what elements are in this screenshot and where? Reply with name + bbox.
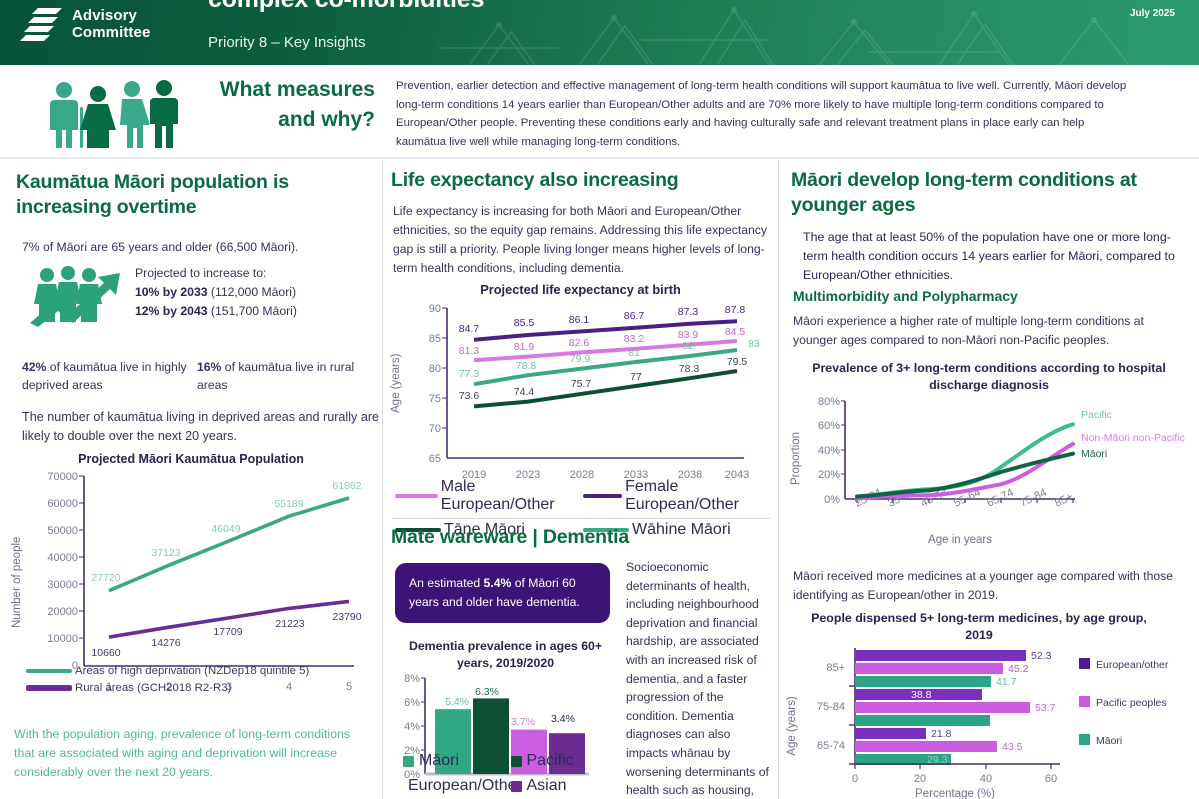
bar-85-pacific (855, 663, 1003, 674)
svg-text:78.8: 78.8 (516, 360, 537, 372)
col3-title: Māori develop long-term conditions at yo… (791, 168, 1191, 218)
org-logo: Advisory Committee (22, 4, 182, 50)
svg-text:60000: 60000 (47, 498, 78, 510)
legend-label: Areas of high deprivation (NZDep18 quint… (75, 665, 309, 677)
svg-text:85.5: 85.5 (514, 317, 535, 329)
intro-heading: What measures and why? (190, 75, 375, 135)
legend-item: Asian (511, 777, 619, 795)
svg-text:90: 90 (429, 303, 441, 315)
col1-two-stats: 42% of kaumātua live in highly deprived … (22, 358, 374, 394)
col2-side-text: Socioeconomic determinants of health, in… (626, 558, 772, 799)
svg-text:53.7: 53.7 (1035, 702, 1056, 714)
svg-text:0: 0 (852, 773, 858, 785)
svg-text:8%: 8% (404, 673, 420, 685)
svg-text:86.7: 86.7 (624, 310, 645, 322)
svg-text:10000: 10000 (47, 633, 78, 645)
bar-7584-maori (855, 715, 990, 726)
legend-swatch-deprivation (26, 669, 72, 673)
svg-text:3.4%: 3.4% (551, 713, 575, 725)
bar-6574-european (855, 728, 926, 739)
svg-text:46049: 46049 (211, 523, 240, 535)
legend-label: Asian (527, 777, 567, 795)
svg-text:61862: 61862 (332, 480, 361, 492)
page-header: Advisory Committee complex co-morbiditie… (0, 0, 1199, 65)
chart-life-expectancy: Age (years) 90 85 80 75 70 65 2019202320… (389, 298, 771, 498)
legend-swatch-rural (26, 685, 72, 691)
legend-swatch-maori (403, 756, 414, 767)
svg-text:87.3: 87.3 (678, 306, 699, 318)
col2-title-dementia: Mate wareware | Dementia (391, 525, 771, 550)
col1-stat-deprived-value: 42% (22, 360, 46, 374)
svg-text:60: 60 (1045, 773, 1057, 785)
svg-text:5.4%: 5.4% (445, 696, 469, 708)
chart1-ylabel: Number of people (11, 537, 23, 628)
col3-subhead: Multimorbidity and Polypharmacy (793, 288, 1018, 304)
people-growth-arrow-icon (28, 265, 128, 327)
intro-body: Prevention, earlier detection and effect… (396, 77, 1131, 151)
bar-85-european (855, 650, 1026, 661)
col3-body-1: The age that at least 50% of the populat… (803, 228, 1183, 285)
svg-text:38.8: 38.8 (911, 689, 932, 701)
intro-divider (0, 157, 1199, 159)
svg-text:84.5: 84.5 (725, 326, 746, 338)
col2-title: Life expectancy also increasing (391, 168, 771, 193)
chart3-legend: Māori Pacific European/Other Asian (403, 752, 618, 799)
svg-text:55189: 55189 (274, 498, 303, 510)
svg-text:0%: 0% (824, 494, 840, 506)
intro-band: What measures and why? Prevention, earli… (0, 65, 1199, 157)
svg-text:70000: 70000 (47, 471, 78, 483)
org-line-1: Advisory (72, 7, 137, 24)
col1-projection: Projected to increase to: 10% by 2033 (1… (135, 264, 365, 321)
col1-projection-1-bold: 10% by 2033 (135, 285, 208, 299)
legend-label: Male European/Other (441, 478, 583, 514)
svg-text:85+: 85+ (1053, 491, 1075, 510)
legend-swatch-pacific (511, 756, 522, 767)
four-people-icon (40, 77, 185, 149)
svg-text:75.7: 75.7 (571, 378, 592, 390)
legend-label: Pacific peoples (1096, 697, 1167, 709)
svg-text:75-84: 75-84 (1018, 487, 1049, 510)
svg-text:3.7%: 3.7% (511, 716, 535, 728)
svg-text:41.3: 41.3 (995, 715, 1016, 727)
column-population: Kaumātua Māori population is increasing … (0, 160, 382, 799)
chart4-ylabel: Proportion (790, 432, 802, 485)
chart-title-projected-population: Projected Māori Kaumātua Population (0, 452, 382, 466)
bar-7584-pacific (855, 702, 1030, 713)
svg-text:40%: 40% (818, 445, 840, 457)
svg-text:83: 83 (748, 338, 760, 350)
chart-medicines-dispensed: Age (years) 85+75-8465-74 52.3 45 (779, 644, 1199, 799)
col1-projection-2-bold: 12% by 2043 (135, 304, 208, 318)
svg-text:70: 70 (429, 423, 441, 435)
dementia-callout-value: 5.4% (484, 576, 512, 590)
infographic-page: Advisory Committee complex co-morbiditie… (0, 0, 1199, 799)
col3-body-3: Māori received more medicines at a young… (793, 567, 1183, 605)
svg-text:86.1: 86.1 (569, 314, 590, 326)
logo-mark-icon (22, 6, 66, 48)
col2-body: Life expectancy is increasing for both M… (393, 202, 775, 278)
chart-title-life-expectancy: Projected life expectancy at birth (383, 282, 778, 297)
chart5-xlabel: Percentage (%) (915, 788, 995, 799)
svg-text:45.2: 45.2 (1008, 663, 1029, 675)
svg-text:30000: 30000 (47, 579, 78, 591)
svg-text:21.8: 21.8 (931, 728, 952, 740)
svg-text:23790: 23790 (332, 611, 361, 623)
svg-text:85: 85 (429, 333, 441, 345)
col1-stat-rural: 16% of kaumātua live in rural areas (197, 358, 372, 394)
svg-text:82: 82 (682, 340, 694, 352)
svg-text:85+: 85+ (826, 662, 845, 674)
legend-label: Pacific (527, 752, 574, 770)
col1-projection-1-rest: (112,000 Māori) (208, 285, 297, 299)
svg-text:74.4: 74.4 (514, 386, 535, 398)
svg-text:65-74: 65-74 (817, 740, 845, 752)
col1-note: The number of kaumātua living in deprive… (22, 408, 382, 446)
bar-6574-pacific (855, 741, 997, 752)
svg-text:27720: 27720 (91, 572, 120, 584)
svg-text:87.8: 87.8 (725, 304, 746, 316)
svg-text:77: 77 (630, 371, 642, 383)
col1-stat-rural-value: 16% (197, 360, 221, 374)
svg-text:75: 75 (429, 393, 441, 405)
svg-text:52.3: 52.3 (1031, 650, 1052, 662)
org-name: Advisory Committee (72, 7, 150, 41)
svg-text:65: 65 (429, 453, 441, 465)
svg-text:65-74: 65-74 (985, 487, 1016, 510)
legend-swatch-male-european (395, 494, 438, 498)
svg-text:43.5: 43.5 (1002, 741, 1023, 753)
svg-text:81.3: 81.3 (459, 345, 480, 357)
col1-stat-65plus: 7% of Māori are 65 years and older (66,5… (22, 238, 372, 257)
svg-text:40000: 40000 (47, 552, 78, 564)
legend-label: European/other (1096, 659, 1169, 671)
chart1-legend: Areas of high deprivation (NZDep18 quint… (26, 665, 376, 699)
header-title: complex co-morbidities (208, 0, 908, 14)
col1-footer: With the population aging, prevalence of… (14, 725, 369, 782)
svg-text:73.6: 73.6 (459, 390, 480, 402)
legend-item: Pacific (511, 752, 619, 770)
col1-stat-deprived: 42% of kaumātua live in highly deprived … (22, 358, 197, 394)
svg-text:81.9: 81.9 (514, 341, 535, 353)
svg-text:82.6: 82.6 (569, 337, 590, 349)
chart4-label-nonmaori: Non-Māori non-Pacific (1081, 432, 1185, 444)
org-line-2: Committee (72, 24, 150, 41)
svg-text:6.3%: 6.3% (475, 686, 499, 698)
svg-text:83.2: 83.2 (624, 333, 645, 345)
svg-text:79.9: 79.9 (570, 353, 591, 365)
legend-swatch-female-european (583, 494, 622, 498)
svg-text:75-84: 75-84 (817, 701, 845, 713)
legend-label: Māori (1096, 735, 1122, 747)
legend-swatch-asian (511, 781, 522, 792)
legend-item: Māori (403, 752, 511, 770)
column-life-expectancy: Life expectancy also increasing Life exp… (383, 160, 778, 799)
svg-text:41.7: 41.7 (996, 676, 1017, 688)
svg-text:60%: 60% (818, 420, 840, 432)
legend-item: Areas of high deprivation (NZDep18 quint… (26, 665, 376, 677)
svg-text:79.5: 79.5 (727, 356, 748, 368)
chart-title-prevalence-3plus: Prevalence of 3+ long-term conditions ac… (789, 360, 1189, 394)
svg-text:40: 40 (980, 773, 992, 785)
svg-text:6%: 6% (404, 697, 420, 709)
header-date: July 2025 (1130, 8, 1175, 19)
chart5-legend: European/other Pacific peoples Māori (1079, 658, 1169, 747)
legend-item: Rural areas (GCH2018 R2-R3) (26, 682, 376, 694)
svg-text:4%: 4% (404, 721, 420, 733)
svg-text:81: 81 (628, 347, 640, 359)
svg-text:80: 80 (429, 363, 441, 375)
svg-text:84.7: 84.7 (459, 323, 480, 335)
svg-text:20%: 20% (818, 469, 840, 481)
legend-label: Female European/Other (625, 478, 771, 514)
svg-text:50000: 50000 (47, 525, 78, 537)
chart5-ylabel: Age (years) (786, 696, 798, 756)
legend-label: European/Other (408, 777, 522, 795)
chart-prevalence-3plus: Proportion 80% 60% 40% 20% 0% 25-34 35-4… (785, 395, 1195, 555)
legend-item: Male European/Other (395, 478, 583, 514)
header-subtitle: Priority 8 – Key Insights (208, 34, 366, 51)
chart4-xlabel: Age in years (928, 534, 992, 546)
svg-text:37123: 37123 (151, 547, 180, 559)
svg-text:20000: 20000 (47, 606, 78, 618)
svg-text:20: 20 (914, 773, 926, 785)
column-long-term-conditions: Māori develop long-term conditions at yo… (779, 160, 1199, 799)
svg-text:10660: 10660 (91, 647, 120, 659)
col1-projection-intro: Projected to increase to: (135, 266, 266, 280)
legend-label: Rural areas (GCH2018 R2-R3) (75, 682, 231, 694)
col3-body-2: Māori experience a higher rate of multip… (793, 312, 1183, 350)
dementia-callout: An estimated 5.4% of Māori 60 years and … (395, 563, 610, 623)
svg-text:14276: 14276 (151, 637, 180, 649)
chart-title-medicines: People dispensed 5+ long-term medicines,… (809, 610, 1149, 644)
chart4-label-pacific: Pacific (1081, 409, 1112, 421)
col1-stat-rural-text: of kaumātua live in rural areas (197, 360, 354, 392)
svg-text:17709: 17709 (213, 626, 242, 638)
svg-text:80%: 80% (818, 396, 840, 408)
col1-title: Kaumātua Māori population is increasing … (16, 170, 361, 220)
chart-title-dementia: Dementia prevalence in ages 60+ years, 2… (393, 638, 618, 672)
svg-text:78.3: 78.3 (679, 363, 700, 375)
legend-item: Female European/Other (583, 478, 771, 514)
svg-text:77.3: 77.3 (459, 368, 480, 380)
svg-text:21223: 21223 (275, 618, 304, 630)
chart4-label-maori: Māori (1081, 448, 1107, 460)
bar-85-maori (855, 676, 991, 687)
col1-stat-deprived-text: of kaumātua live in highly deprived area… (22, 360, 187, 392)
legend-item: European/Other (403, 777, 511, 795)
chart2-ylabel: Age (years) (390, 353, 402, 413)
legend-label: Māori (419, 752, 459, 770)
dementia-callout-pre: An estimated (409, 576, 484, 590)
col1-projection-2-rest: (151,700 Māori) (208, 304, 297, 318)
